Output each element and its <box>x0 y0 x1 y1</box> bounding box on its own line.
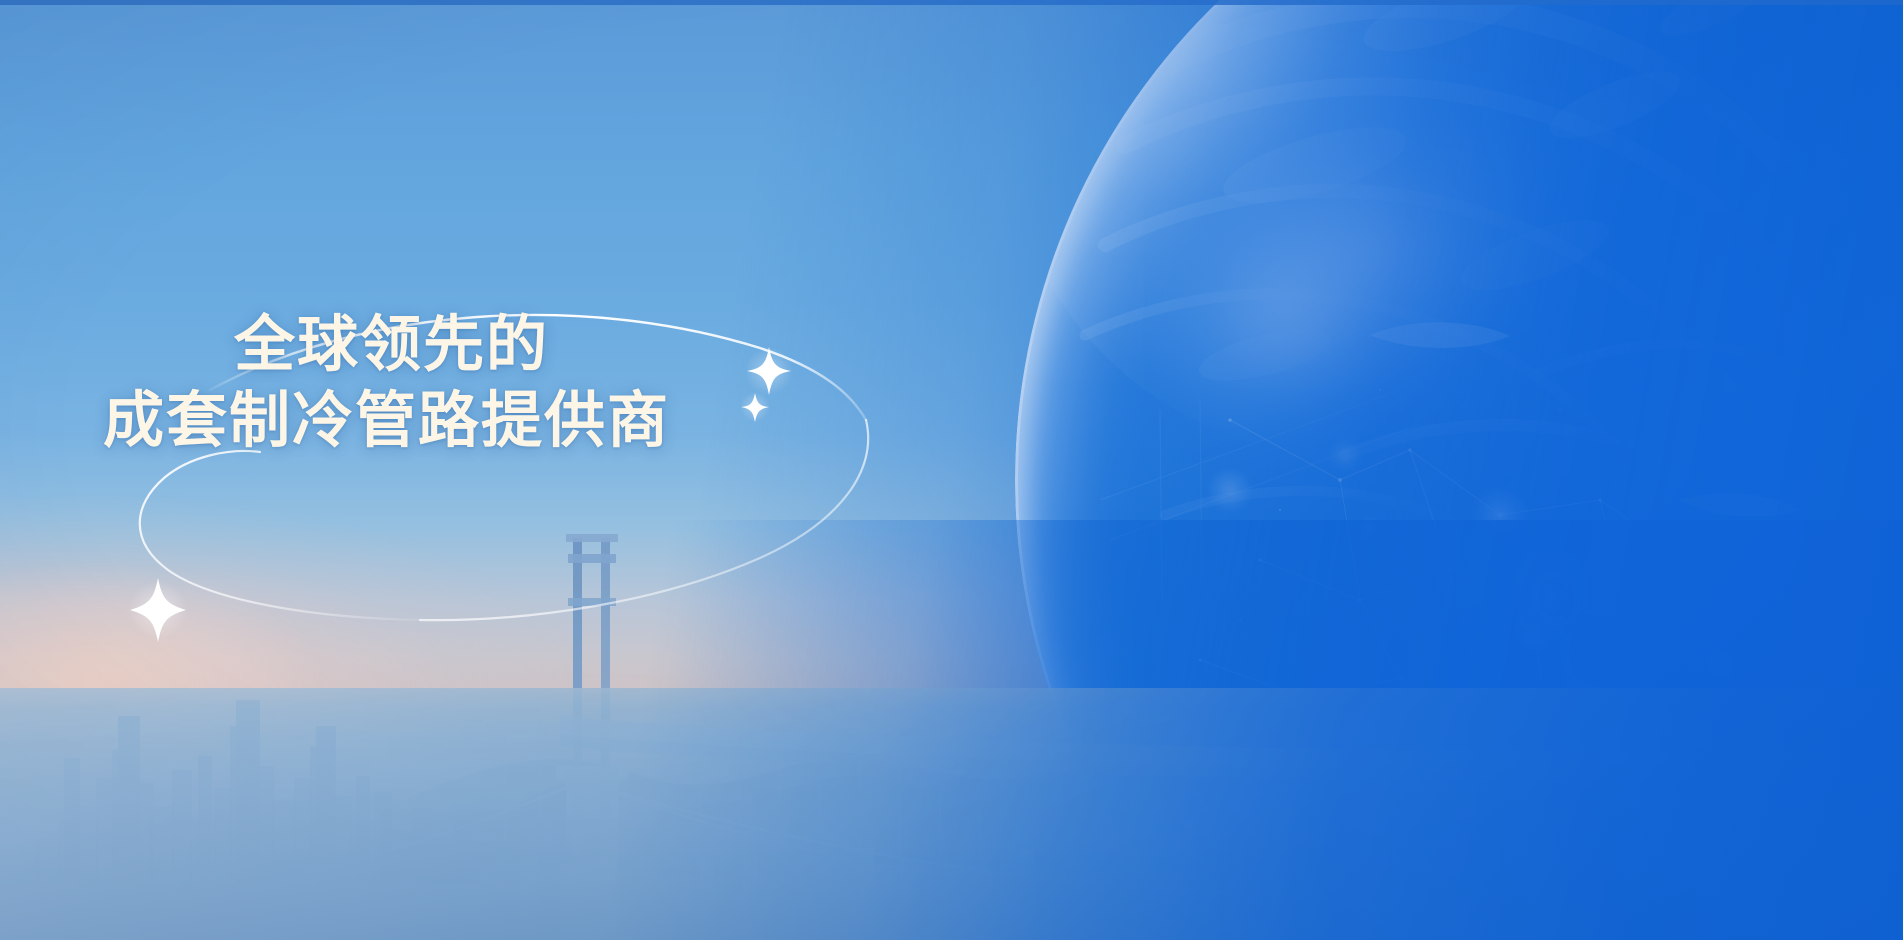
headline-line-1: 全球领先的 <box>234 306 863 382</box>
headline-line-2: 成套制冷管路提供商 <box>103 382 863 458</box>
water-sheen <box>0 688 1903 940</box>
top-edge-strip <box>0 0 1903 5</box>
city-scene <box>0 520 1903 940</box>
hero-headline: 全球领先的 成套制冷管路提供商 <box>103 306 863 458</box>
hero-banner: 全球领先的 成套制冷管路提供商 <box>0 0 1903 940</box>
